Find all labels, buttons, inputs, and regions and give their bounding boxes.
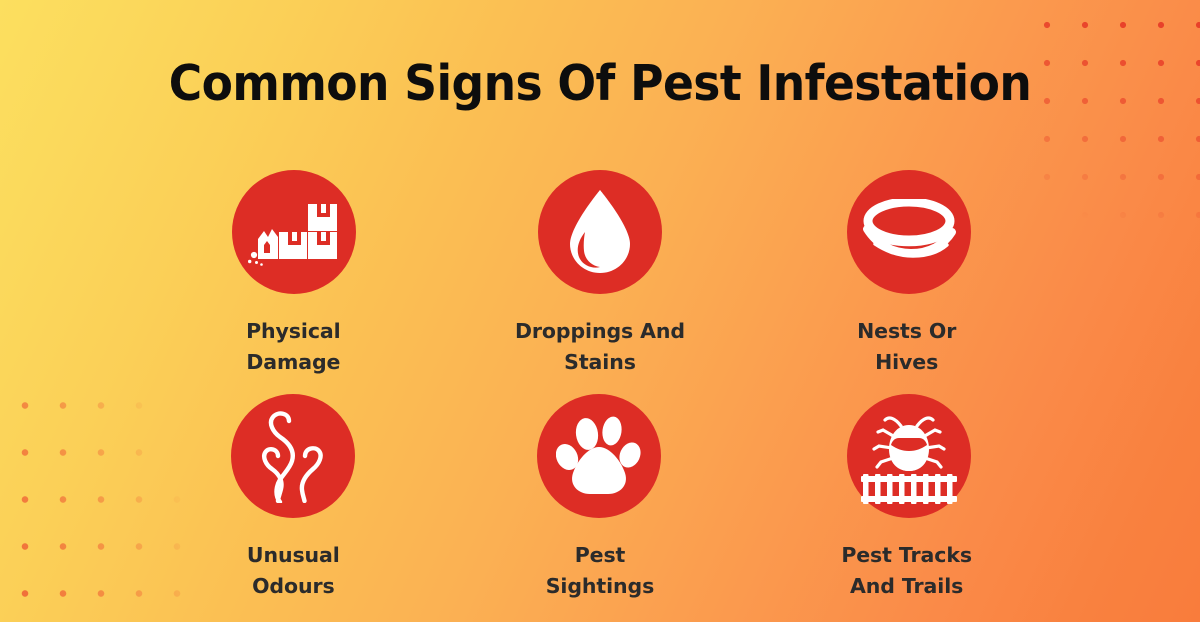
sign-label: Pest Sightings (546, 540, 654, 602)
odour-swirls-icon (256, 409, 330, 503)
sign-label: Droppings And Stains (515, 316, 685, 378)
damaged-boxes-icon (248, 195, 340, 269)
sign-item-pest-tracks-and-trails: Pest Tracks And Trails (753, 394, 1060, 618)
sign-item-droppings-and-stains: Droppings And Stains (447, 170, 754, 394)
droplet-stain-icon (564, 188, 636, 276)
bottom-white-strip (0, 622, 1200, 628)
page-title: Common Signs Of Pest Infestation (42, 58, 1158, 109)
icon-badge (232, 170, 356, 294)
sign-label: Pest Tracks And Trails (841, 540, 972, 602)
sign-label: Physical Damage (246, 316, 340, 378)
icon-badge (847, 394, 971, 518)
icon-badge (538, 170, 662, 294)
sign-item-physical-damage: Physical Damage (140, 170, 447, 394)
sign-label: Unusual Odours (247, 540, 340, 602)
paw-print-icon (556, 415, 642, 497)
sign-item-pest-sightings: Pest Sightings (447, 394, 754, 618)
icon-badge (847, 170, 971, 294)
signs-grid: Physical Damage Droppings And Stains (140, 170, 1060, 618)
infographic-canvas: Common Signs Of Pest Infestation (0, 0, 1200, 628)
icon-badge (231, 394, 355, 518)
sign-item-nests-or-hives: Nests Or Hives (753, 170, 1060, 394)
bug-on-track-icon (859, 408, 959, 504)
icon-badge (537, 394, 661, 518)
nest-icon (861, 199, 957, 265)
sign-item-unusual-odours: Unusual Odours (140, 394, 447, 618)
sign-label: Nests Or Hives (857, 316, 956, 378)
